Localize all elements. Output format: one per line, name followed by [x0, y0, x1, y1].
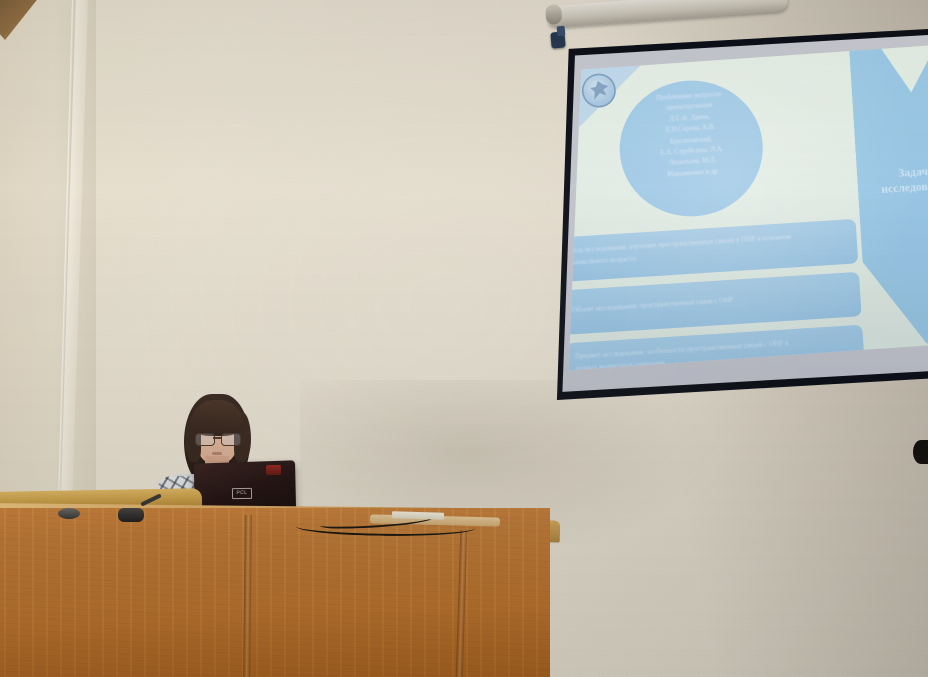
slide-content: Методологический аппарат исслед Проблема…: [553, 28, 928, 400]
slide-authors-circle-text: Проблемами вопросов проектирования Л.С.Ф…: [625, 87, 757, 183]
screen-roller-cap: [545, 4, 562, 25]
podium-wood-texture: [0, 508, 550, 677]
screen-roller-casing[interactable]: [547, 0, 788, 28]
glasses-lens-right: [221, 433, 241, 446]
presenter-glasses-icon: [195, 433, 240, 444]
screen-mount-bracket-arm: [557, 26, 566, 37]
lecture-hall-photo: Методологический аппарат исслед Проблема…: [0, 0, 928, 677]
glasses-lens-left: [195, 433, 215, 446]
laptop-brand-mark: PCL: [232, 488, 252, 499]
computer-mouse[interactable]: [58, 508, 80, 519]
laptop-led-indicator: [266, 465, 281, 475]
wall-fixture-icon: [913, 440, 928, 464]
microphone-base[interactable]: [118, 508, 144, 522]
projected-slide: Методологический аппарат исслед Проблема…: [553, 28, 928, 400]
glasses-bridge: [213, 437, 221, 439]
projection-screen-assembly: Методологический аппарат исслед Проблема…: [545, 14, 928, 414]
paper-sheet: [392, 511, 444, 519]
presenter-mouth: [212, 452, 222, 455]
